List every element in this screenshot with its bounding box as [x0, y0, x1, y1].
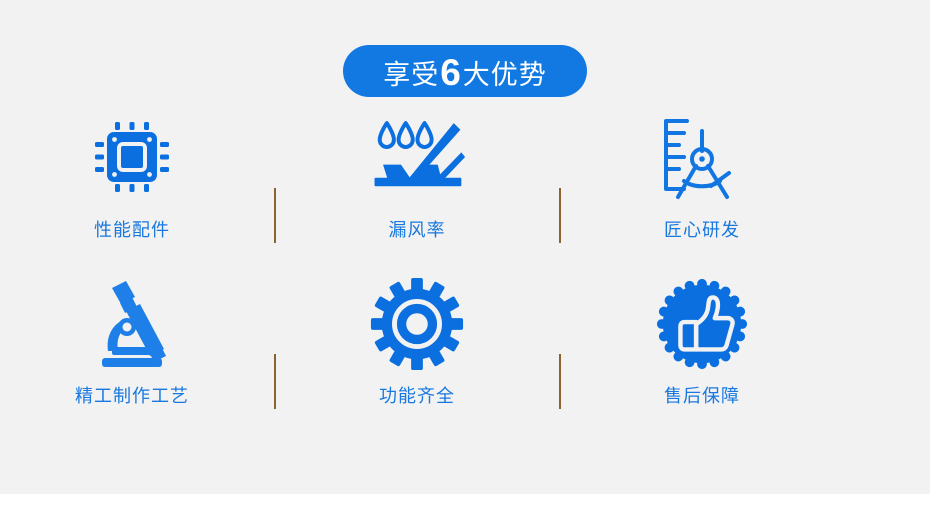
- banner-prefix: 享受: [383, 62, 439, 89]
- divider-line: [274, 188, 276, 243]
- banner-title: 享受6大优势: [383, 53, 547, 90]
- feature-label: 匠心研发: [664, 216, 740, 242]
- microscope-icon: [82, 274, 182, 374]
- divider-4: [549, 274, 570, 409]
- divider-line: [559, 188, 561, 243]
- feature-label: 售后保障: [664, 382, 740, 408]
- feature-label: 功能齐全: [379, 382, 455, 408]
- feature-item-after-sales[interactable]: 售后保障: [570, 274, 834, 408]
- feature-grid: 性能配件: [0, 108, 930, 440]
- feature-item-air-leakage[interactable]: 漏风率: [285, 108, 549, 242]
- gear-icon: [367, 274, 467, 374]
- cpu-chip-icon: [82, 108, 182, 208]
- divider-2: [549, 108, 570, 243]
- feature-label: 性能配件: [94, 216, 170, 242]
- feature-row-1: 性能配件: [0, 108, 930, 274]
- divider-1: [264, 108, 285, 243]
- divider-3: [264, 274, 285, 409]
- feature-row-2: 精工制作工艺: [0, 274, 930, 440]
- feature-item-full-function[interactable]: 功能齐全: [285, 274, 549, 408]
- compass-ruler-icon: [652, 108, 752, 208]
- thumbs-up-badge-icon: [652, 274, 752, 374]
- feature-item-research-development[interactable]: 匠心研发: [570, 108, 834, 242]
- feature-item-craftsmanship[interactable]: 精工制作工艺: [0, 274, 264, 408]
- banner-suffix: 大优势: [463, 62, 547, 89]
- feature-label: 精工制作工艺: [75, 382, 189, 408]
- feature-label: 漏风率: [389, 216, 446, 242]
- banner-number: 6: [439, 54, 463, 91]
- divider-line: [274, 354, 276, 409]
- banner-pill: 享受6大优势: [343, 45, 587, 97]
- divider-line: [559, 354, 561, 409]
- water-droplets-surface-icon: [367, 108, 467, 208]
- promo-panel: 享受6大优势: [0, 0, 930, 515]
- feature-item-performance-parts[interactable]: 性能配件: [0, 108, 264, 242]
